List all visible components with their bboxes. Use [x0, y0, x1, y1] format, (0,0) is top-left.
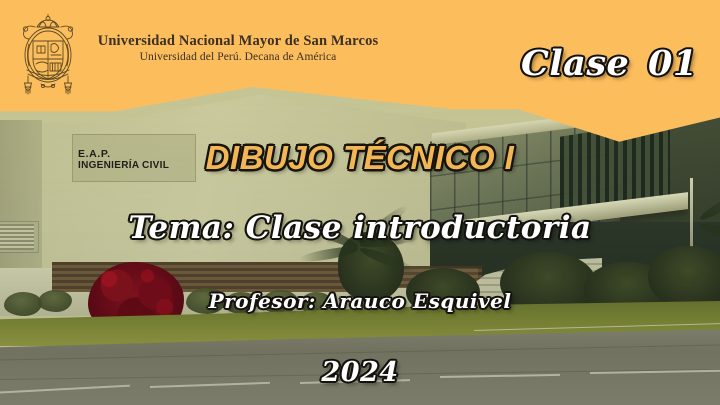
university-name-block: Universidad Nacional Mayor de San Marcos…	[88, 33, 388, 65]
course-title: DIBUJO TÉCNICO I	[0, 138, 720, 178]
course-title-slide: E.A.P. INGENIERÍA CIVIL	[0, 0, 720, 405]
lesson-number-badge: Clase 01	[521, 44, 698, 84]
topic-line: Tema: Clase introductoria	[0, 208, 720, 248]
university-name: Universidad Nacional Mayor de San Marcos	[88, 33, 388, 50]
unmsm-coat-of-arms-icon	[17, 14, 79, 100]
year-line: 2024	[0, 356, 720, 390]
professor-line: Profesor: Arauco Esquivel	[0, 287, 720, 315]
university-tagline: Universidad del Perú. Decana de América	[88, 50, 388, 65]
